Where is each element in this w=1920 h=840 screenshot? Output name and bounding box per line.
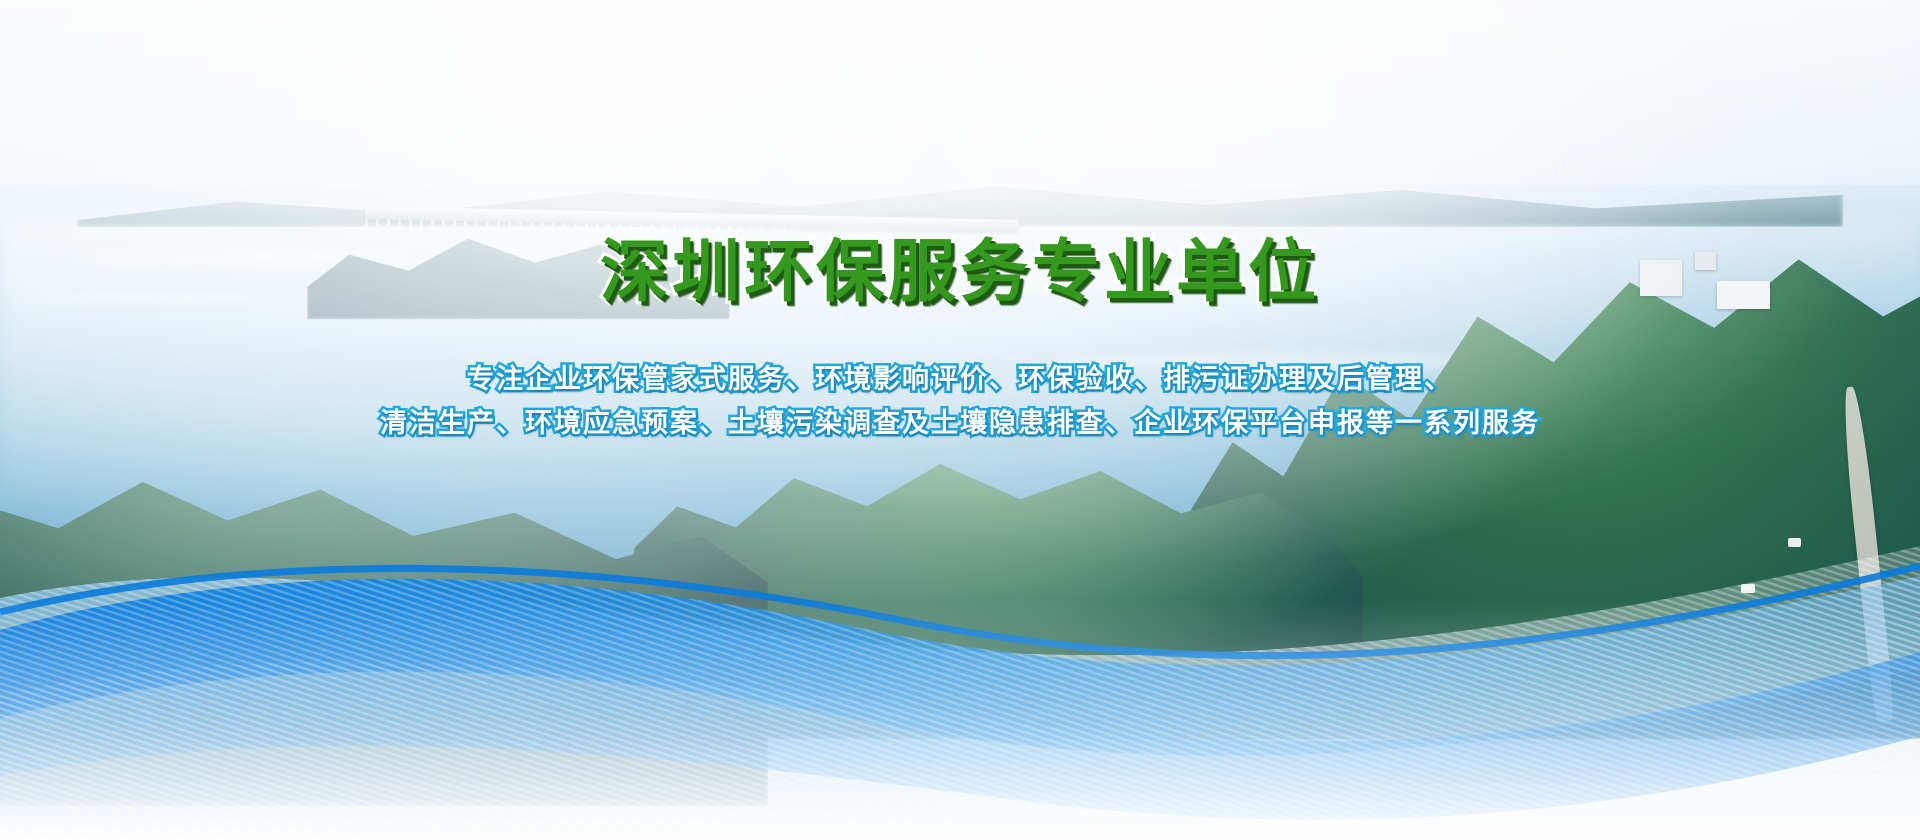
boat — [1741, 584, 1754, 593]
boat — [1788, 538, 1801, 547]
hillside-building — [1640, 260, 1682, 295]
hero-banner: 深圳环保服务专业单位 专注企业环保管家式服务、环境影响评价、环保验收、排污证办理… — [0, 0, 1920, 840]
hillside-building — [1717, 281, 1771, 310]
background-photo — [0, 0, 1920, 840]
hillside-building — [1695, 252, 1716, 270]
